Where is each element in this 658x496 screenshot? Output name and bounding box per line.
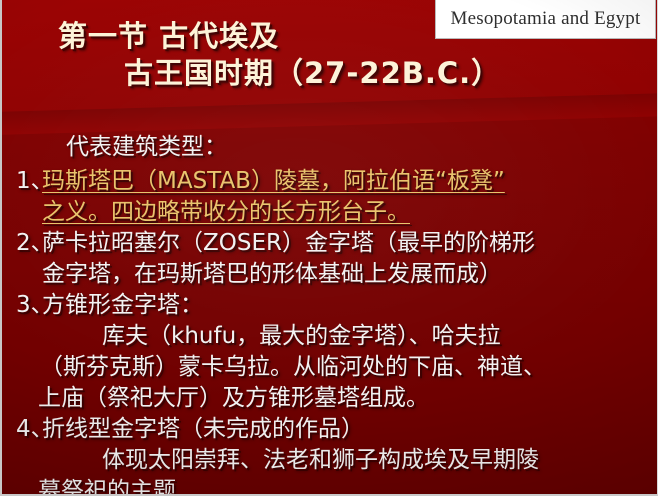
list-item-number: 2、: [16, 228, 54, 259]
title-line-1: 第一节 古代埃及: [2, 18, 642, 55]
list-item-number: 3、: [16, 290, 54, 321]
list-item: 4、 折线型金字塔（未完成的作品） 体现太阳崇拜、法老和狮子构成埃及早期陵 墓祭…: [2, 414, 658, 496]
list-item-number: 4、: [16, 414, 54, 445]
list-item: 3、 方锥形金字塔： 库夫（khufu，最大的金字塔）、哈夫拉 （斯芬克斯）蒙卡…: [2, 290, 658, 414]
list-item-subline: 体现太阳崇拜、法老和狮子构成埃及早期陵: [102, 447, 539, 473]
slide-body: 代表建筑类型： 1、 玛斯塔巴（MASTAB）陵墓，阿拉伯语“板凳” 之义。四边…: [2, 132, 658, 496]
title-line-2: 古王国时期（27-22B.C.）: [2, 55, 642, 92]
list-item-subline: 库夫（khufu，最大的金字塔）、哈夫拉: [102, 323, 501, 349]
list-item-line: 方锥形金字塔：: [42, 292, 203, 318]
list-item-number: 1、: [16, 166, 54, 197]
list-item-line: 萨卡拉昭塞尔（ZOSER）金字塔（最早的阶梯形: [42, 230, 535, 256]
presentation-slide: Mesopotamia and Egypt 第一节 古代埃及 古王国时期（27-…: [0, 0, 658, 496]
list-item: 2、 萨卡拉昭塞尔（ZOSER）金字塔（最早的阶梯形 金字塔，在玛斯塔巴的形体基…: [2, 228, 658, 290]
list-item-subline: （斯芬克斯）蒙卡乌拉。从临河处的下庙、神道、: [40, 354, 546, 380]
list-item-line: 折线型金字塔（未完成的作品）: [42, 416, 364, 442]
page-title: 第一节 古代埃及 古王国时期（27-22B.C.）: [2, 18, 642, 92]
body-lead-text: 代表建筑类型：: [2, 132, 658, 163]
list-item-line: 金字塔，在玛斯塔巴的形体基础上发展而成）: [42, 261, 502, 287]
list-item: 1、 玛斯塔巴（MASTAB）陵墓，阿拉伯语“板凳” 之义。四边略带收分的长方形…: [2, 166, 658, 228]
list-item-subline: 上庙（祭祀大厅）及方锥形墓塔组成。: [38, 385, 429, 411]
list-item-subline: 墓祭祀的主题: [38, 478, 176, 496]
list-item-line: 玛斯塔巴（MASTAB）陵墓，阿拉伯语“板凳”: [42, 168, 505, 194]
list-item-line: 之义。四边略带收分的长方形台子。: [42, 199, 410, 225]
